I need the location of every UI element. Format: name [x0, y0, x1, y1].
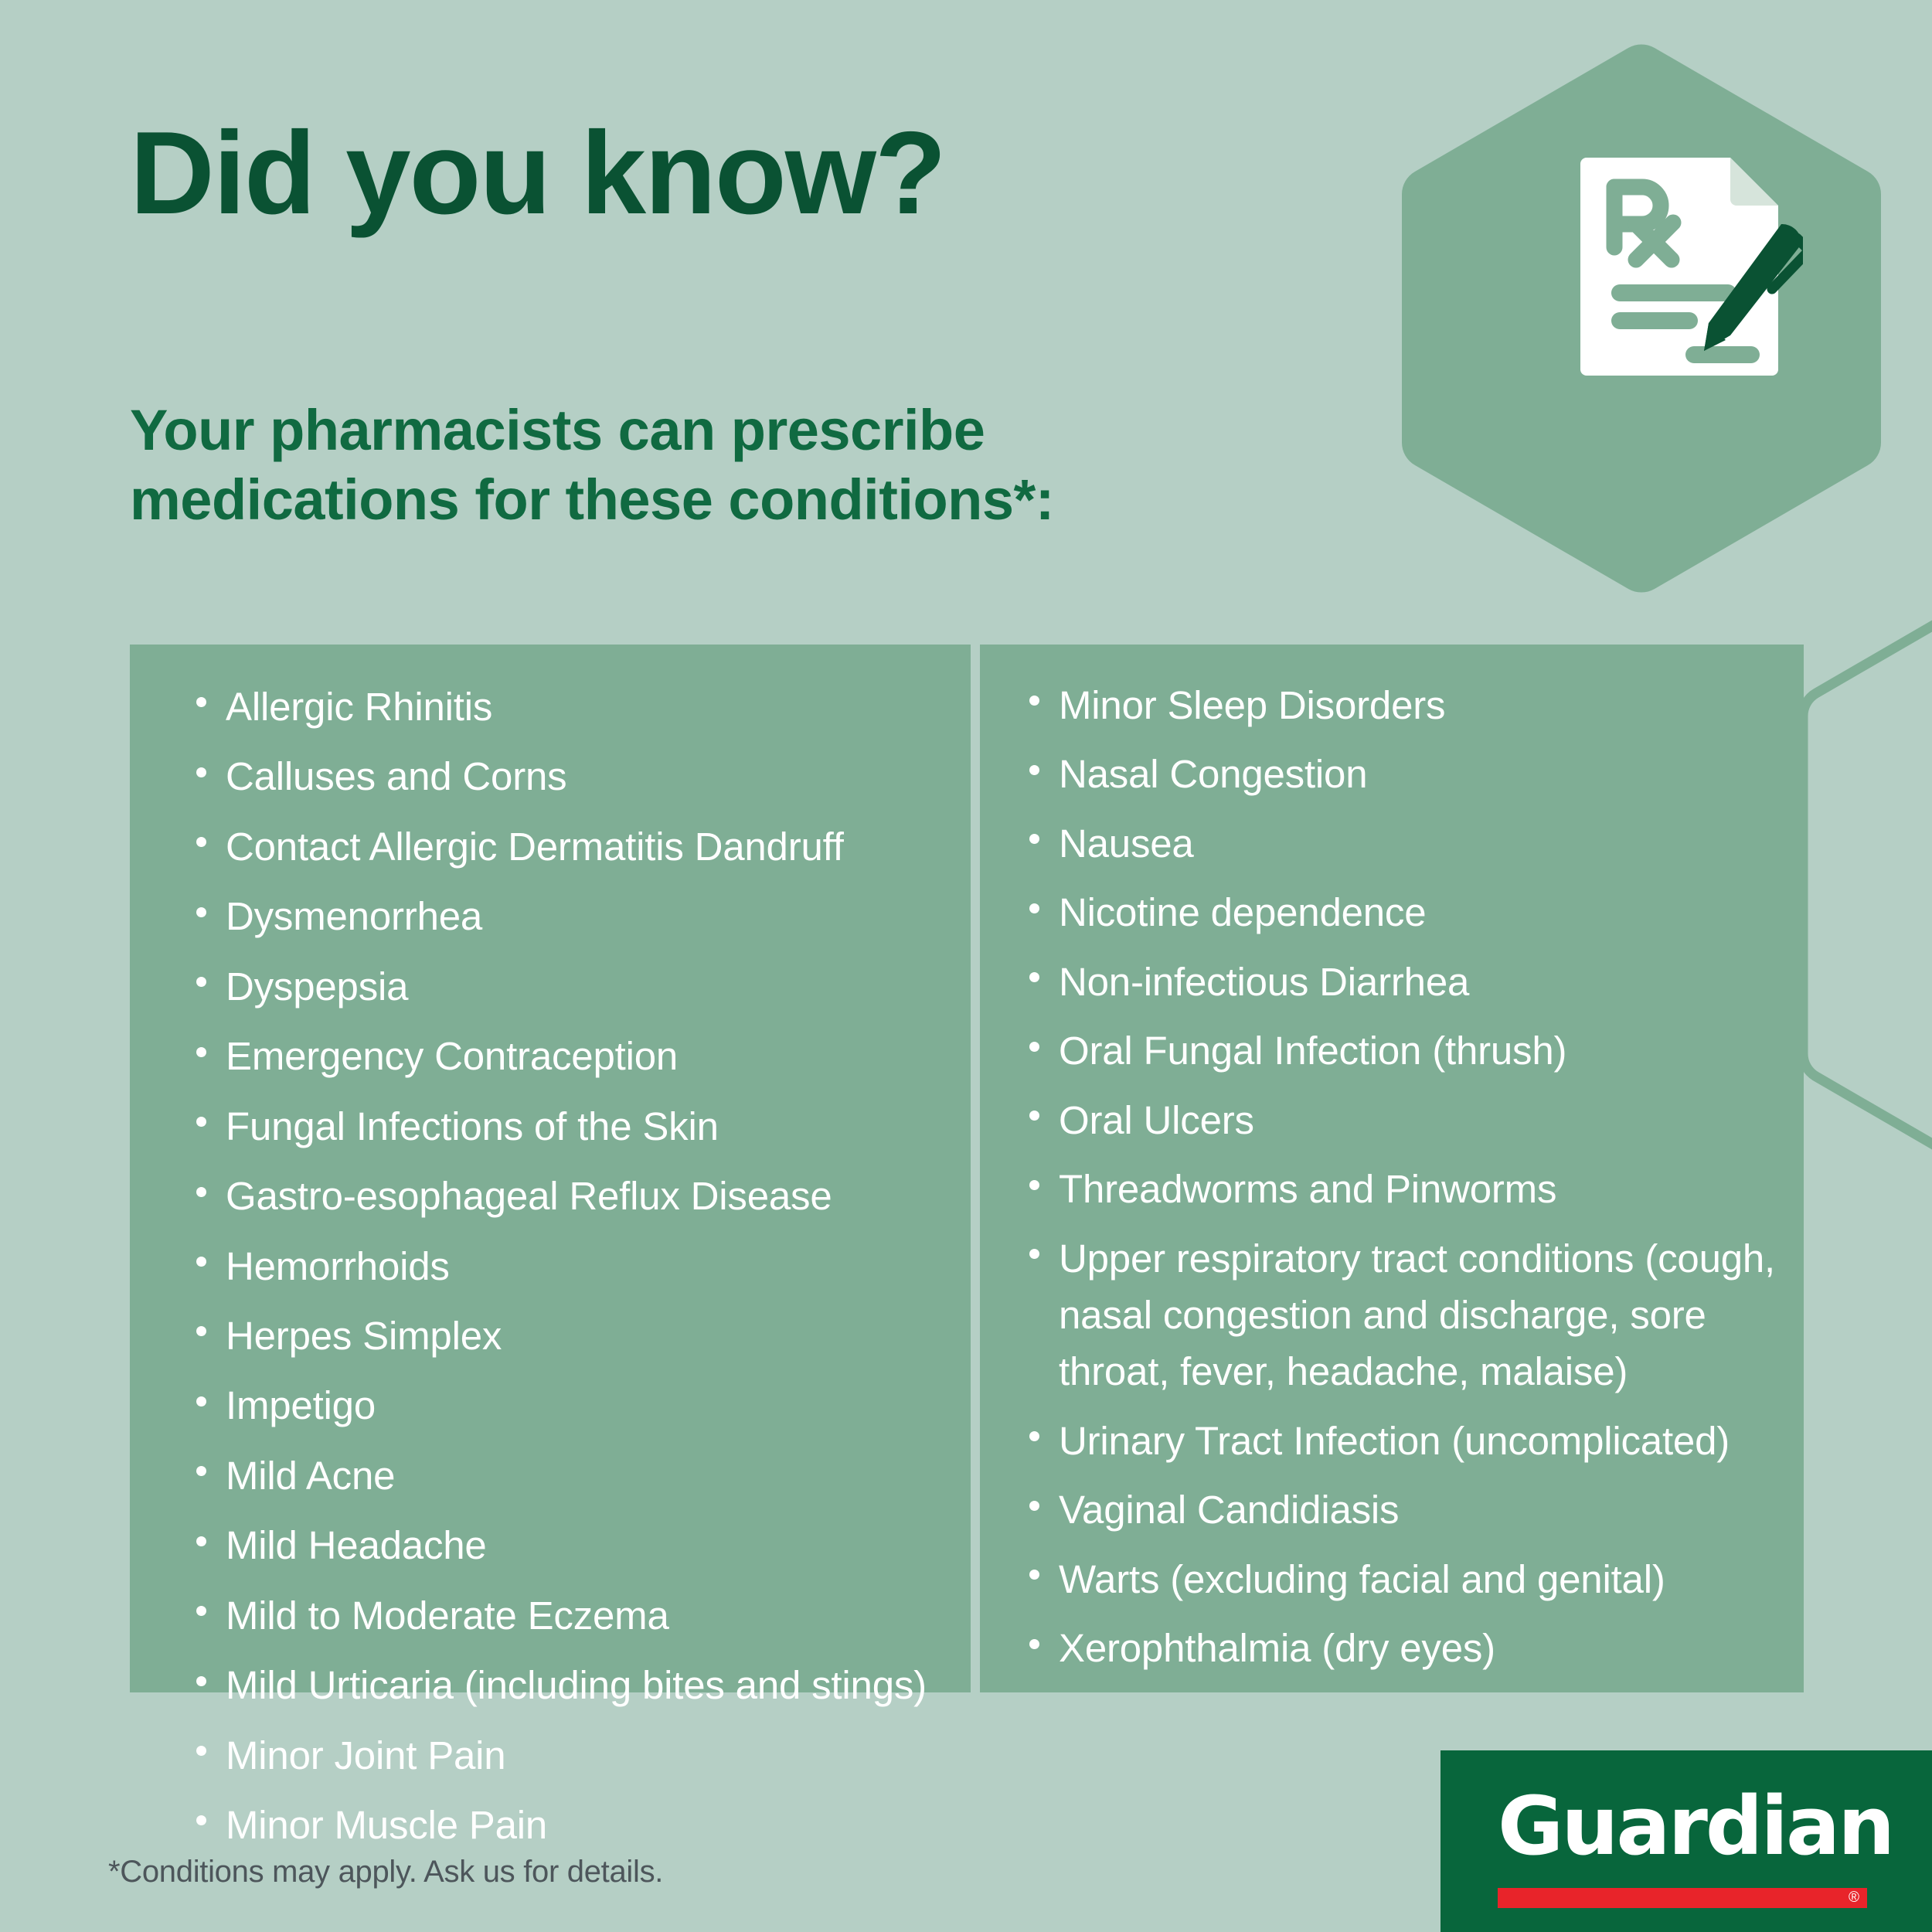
guardian-wordmark: Guardian	[1498, 1786, 1893, 1866]
bullet-icon	[1029, 903, 1039, 913]
condition-label: Mild Acne	[226, 1454, 395, 1498]
conditions-panel-left: Allergic RhinitisCalluses and CornsConta…	[130, 645, 971, 1692]
condition-label: Oral Ulcers	[1059, 1098, 1254, 1142]
condition-label: Hemorrhoids	[226, 1244, 450, 1288]
bullet-icon	[196, 837, 206, 847]
bullet-icon	[1029, 1249, 1039, 1259]
condition-label: Fungal Infections of the Skin	[226, 1104, 719, 1148]
condition-label: Minor Joint Pain	[226, 1733, 505, 1777]
condition-list-item: Mild Acne	[195, 1447, 947, 1504]
condition-label: Threadworms and Pinworms	[1059, 1167, 1556, 1211]
condition-label: Upper respiratory tract conditions (coug…	[1059, 1236, 1775, 1394]
bullet-icon	[196, 1257, 206, 1267]
condition-list-item: Warts (excluding facial and genital)	[1028, 1551, 1788, 1607]
subtitle-line-1: Your pharmacists can prescribe	[130, 398, 985, 462]
condition-label: Contact Allergic Dermatitis Dandruff	[226, 825, 844, 869]
bullet-icon	[1029, 834, 1039, 844]
bullet-icon	[1029, 1501, 1039, 1511]
bullet-icon	[1029, 1570, 1039, 1580]
condition-list-item: Upper respiratory tract conditions (coug…	[1028, 1230, 1788, 1400]
rx-prescription-with-pen-icon	[1579, 151, 1803, 383]
condition-list-item: Threadworms and Pinworms	[1028, 1161, 1788, 1217]
condition-list-item: Dyspepsia	[195, 958, 947, 1015]
condition-label: Mild Headache	[226, 1523, 487, 1567]
condition-label: Dysmenorrhea	[226, 894, 482, 938]
condition-list-item: Nausea	[1028, 815, 1788, 872]
bullet-icon	[196, 1047, 206, 1057]
condition-list-item: Dysmenorrhea	[195, 888, 947, 944]
condition-label: Vaginal Candidiasis	[1059, 1488, 1399, 1532]
condition-list-item: Mild Headache	[195, 1517, 947, 1573]
conditions-list-right: Minor Sleep DisordersNasal CongestionNau…	[980, 645, 1804, 1677]
footnote-text: *Conditions may apply. Ask us for detail…	[108, 1855, 663, 1889]
condition-list-item: Hemorrhoids	[195, 1238, 947, 1294]
condition-label: Dyspepsia	[226, 964, 408, 1009]
condition-label: Non-infectious Diarrhea	[1059, 960, 1469, 1004]
bullet-icon	[196, 1396, 206, 1406]
document-line-2	[1611, 312, 1698, 329]
guardian-logo: Guardian ®	[1440, 1750, 1932, 1932]
bullet-icon	[196, 767, 206, 777]
condition-list-item: Fungal Infections of the Skin	[195, 1098, 947, 1155]
condition-label: Gastro-esophageal Reflux Disease	[226, 1174, 832, 1218]
bullet-icon	[196, 1676, 206, 1686]
bullet-icon	[196, 1187, 206, 1197]
bullet-icon	[1029, 696, 1039, 706]
bullet-icon	[1029, 1180, 1039, 1190]
condition-list-item: Mild Urticaria (including bites and stin…	[195, 1657, 947, 1713]
bullet-icon	[196, 1117, 206, 1127]
page-title: Did you know?	[130, 114, 945, 232]
bullet-icon	[196, 1536, 206, 1546]
condition-label: Xerophthalmia (dry eyes)	[1059, 1626, 1495, 1670]
infographic-poster: Did you know? Your pharmacists can presc…	[0, 0, 1932, 1932]
condition-label: Allergic Rhinitis	[226, 685, 492, 729]
condition-list-item: Urinary Tract Infection (uncomplicated)	[1028, 1413, 1788, 1469]
document-signature-line	[1685, 346, 1760, 363]
document-fold-shape	[1730, 158, 1778, 206]
condition-list-item: Impetigo	[195, 1377, 947, 1434]
bullet-icon	[196, 977, 206, 987]
condition-list-item: Nasal Congestion	[1028, 746, 1788, 802]
condition-list-item: Non-infectious Diarrhea	[1028, 954, 1788, 1010]
condition-label: Warts (excluding facial and genital)	[1059, 1557, 1665, 1601]
condition-list-item: Minor Sleep Disorders	[1028, 677, 1788, 733]
bullet-icon	[1029, 1431, 1039, 1441]
condition-list-item: Minor Muscle Pain	[195, 1797, 947, 1853]
bullet-icon	[1029, 765, 1039, 775]
conditions-list-left: Allergic RhinitisCalluses and CornsConta…	[130, 645, 971, 1853]
page-subtitle: Your pharmacists can prescribe medicatio…	[130, 396, 1289, 536]
condition-list-item: Oral Fungal Infection (thrush)	[1028, 1022, 1788, 1079]
condition-label: Impetigo	[226, 1383, 376, 1427]
hexagon-outline-shape	[1803, 611, 1932, 1158]
condition-list-item: Emergency Contraception	[195, 1028, 947, 1084]
registered-trademark-mark: ®	[1849, 1889, 1859, 1906]
condition-label: Nausea	[1059, 821, 1194, 866]
condition-list-item: Oral Ulcers	[1028, 1092, 1788, 1148]
bullet-icon	[1029, 1111, 1039, 1121]
condition-label: Herpes Simplex	[226, 1314, 502, 1358]
condition-label: Urinary Tract Infection (uncomplicated)	[1059, 1419, 1730, 1463]
condition-label: Nicotine dependence	[1059, 890, 1426, 934]
bullet-icon	[1029, 1639, 1039, 1649]
condition-list-item: Mild to Moderate Eczema	[195, 1587, 947, 1644]
condition-list-item: Allergic Rhinitis	[195, 679, 947, 735]
bullet-icon	[1029, 972, 1039, 982]
conditions-panel-right: Minor Sleep DisordersNasal CongestionNau…	[980, 645, 1804, 1692]
condition-label: Calluses and Corns	[226, 754, 566, 798]
condition-label: Minor Sleep Disorders	[1059, 683, 1445, 727]
subtitle-line-2: medications for these conditions*:	[130, 468, 1054, 532]
condition-label: Emergency Contraception	[226, 1034, 678, 1078]
bullet-icon	[196, 907, 206, 917]
bullet-icon	[196, 1746, 206, 1756]
condition-label: Mild to Moderate Eczema	[226, 1594, 669, 1638]
condition-label: Oral Fungal Infection (thrush)	[1059, 1029, 1566, 1073]
condition-label: Minor Muscle Pain	[226, 1803, 547, 1847]
bullet-icon	[196, 697, 206, 707]
condition-label: Nasal Congestion	[1059, 752, 1367, 796]
bullet-icon	[196, 1326, 206, 1336]
bullet-icon	[196, 1815, 206, 1825]
bullet-icon	[196, 1606, 206, 1616]
condition-list-item: Nicotine dependence	[1028, 884, 1788, 940]
guardian-red-bar	[1498, 1888, 1867, 1908]
condition-list-item: Contact Allergic Dermatitis Dandruff	[195, 818, 947, 875]
bullet-icon	[196, 1466, 206, 1476]
condition-list-item: Xerophthalmia (dry eyes)	[1028, 1620, 1788, 1676]
document-line-1	[1611, 284, 1736, 301]
condition-label: Mild Urticaria (including bites and stin…	[226, 1663, 927, 1707]
condition-list-item: Calluses and Corns	[195, 748, 947, 804]
bullet-icon	[1029, 1042, 1039, 1052]
condition-list-item: Gastro-esophageal Reflux Disease	[195, 1168, 947, 1224]
condition-list-item: Minor Joint Pain	[195, 1727, 947, 1784]
condition-list-item: Herpes Simplex	[195, 1308, 947, 1364]
condition-list-item: Vaginal Candidiasis	[1028, 1481, 1788, 1538]
